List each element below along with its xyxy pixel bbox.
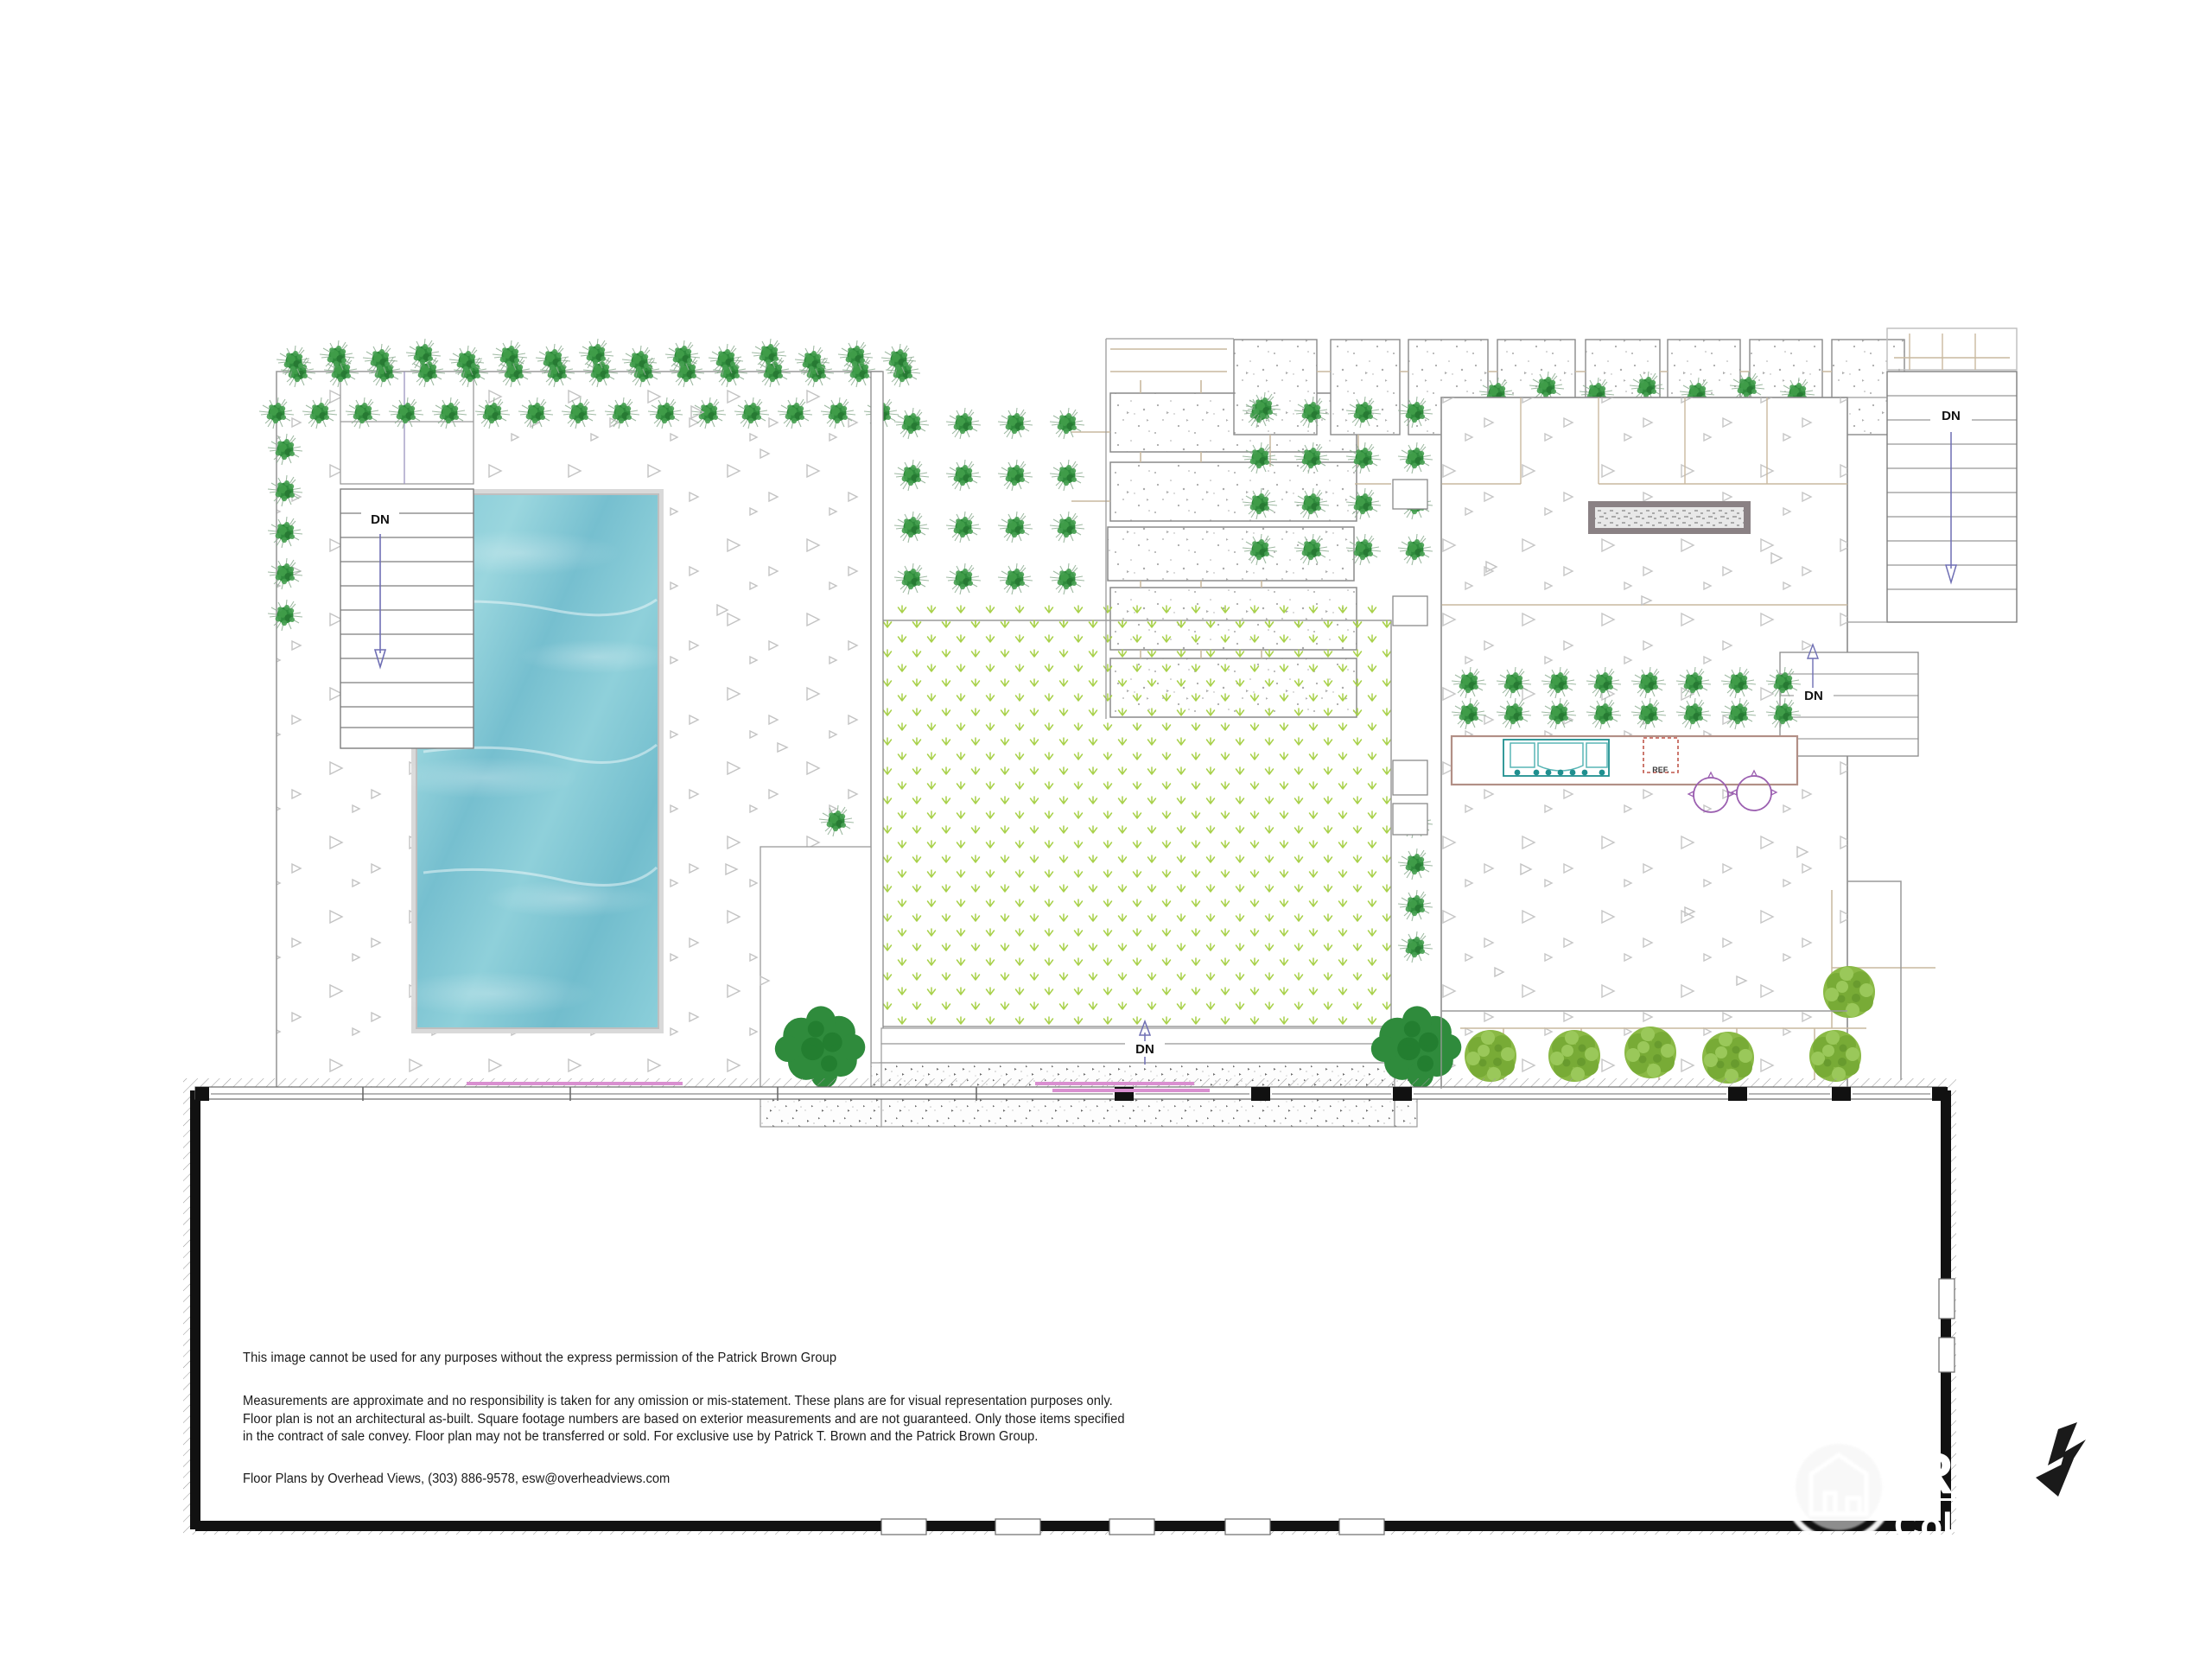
disclaimer-paragraph-line-3: in the contract of sale convey. Floor pl…: [243, 1428, 1113, 1446]
lawn-upper-extension: [881, 605, 1391, 624]
stair-label-dn-patio: DN: [1135, 1042, 1154, 1057]
gravel-patio-band: DN: [880, 1021, 1395, 1127]
stair-run-left: DN: [340, 489, 474, 748]
disclaimer-permission-line: This image cannot be used for any purpos…: [243, 1350, 1113, 1367]
disclaimer-paragraph-line-1: Measurements are approximate and no resp…: [243, 1393, 1113, 1411]
disclaimer-paragraph-line-2: Floor plan is not an architectural as-bu…: [243, 1411, 1113, 1429]
upper-landing-left: [340, 372, 474, 484]
stair-run-upper-right: DN: [1887, 372, 2017, 622]
deck-divider-wall: [871, 372, 883, 1089]
disclaimer-paragraph: Measurements are approximate and no resp…: [243, 1393, 1113, 1446]
refrigerator-label: REF.: [1652, 766, 1669, 774]
stair-label-dn-left: DN: [371, 512, 390, 527]
floorplan-credit-line: Floor Plans by Overhead Views, (303) 886…: [243, 1471, 1113, 1488]
stair-label-dn-mid-right: DN: [1804, 689, 1823, 703]
stair-label-dn-upper-right: DN: [1942, 409, 1961, 423]
lawn-area: [881, 620, 1391, 1027]
disclaimer-block: This image cannot be used for any purpos…: [243, 1350, 1159, 1488]
stair-run-mid-right: DN: [1780, 645, 1918, 756]
